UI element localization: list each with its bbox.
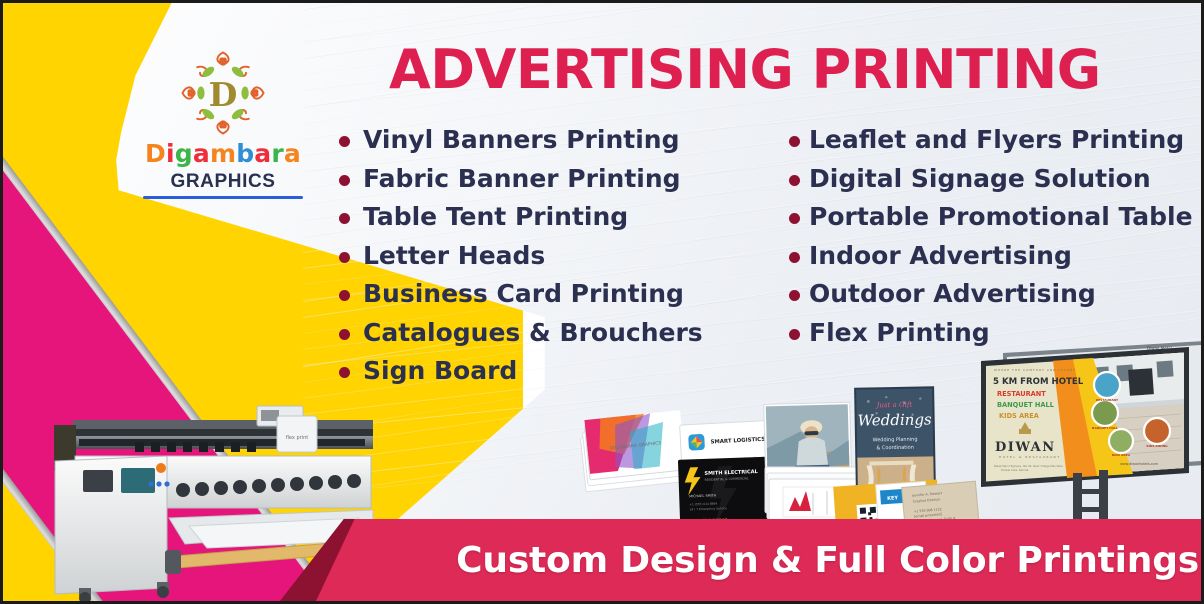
services-left-column: Vinyl Banners PrintingFabric Banner Prin… [339, 125, 739, 395]
service-item[interactable]: Leaflet and Flyers Printing [789, 125, 1204, 156]
billboard-brand: DIWAN [995, 440, 1056, 455]
service-item[interactable]: Fabric Banner Printing [339, 164, 739, 195]
ribbon-tagline: Custom Design & Full Color Printings [3, 519, 1199, 601]
service-item-label: Outdoor Advertising [809, 279, 1096, 310]
service-item[interactable]: Letter Heads [339, 241, 739, 272]
bullet-dot-icon [789, 252, 800, 263]
service-item-label: Flex Printing [809, 318, 990, 349]
bullet-dot-icon [339, 136, 350, 147]
svg-text:Dhiwal Area, Karnita: Dhiwal Area, Karnita [1001, 468, 1029, 472]
service-item[interactable]: Sign Board [339, 356, 739, 387]
billboard-eyebrow: WHERE THE COMFORT AND LUXURY [994, 368, 1076, 372]
bullet-dot-icon [339, 252, 350, 263]
brand-logo[interactable]: D Digambara GRAPHICS [123, 47, 323, 199]
brand-subtitle: GRAPHICS [123, 171, 323, 193]
service-item[interactable]: Flex Printing [789, 318, 1204, 349]
svg-text:KIDS RIDING: KIDS RIDING [1146, 444, 1168, 448]
svg-text:KIDS AREA: KIDS AREA [1112, 453, 1131, 457]
services-right-column: Leaflet and Flyers PrintingDigital Signa… [789, 125, 1204, 356]
brand-letter-2: g [175, 141, 193, 166]
billboard-website: www.diwanhotels.com [1120, 462, 1159, 466]
service-item[interactable]: Outdoor Advertising [789, 279, 1204, 310]
svg-text:& Coordination: & Coordination [876, 445, 914, 452]
service-item[interactable]: Indoor Advertising [789, 241, 1204, 272]
svg-text:Just a Gift: Just a Gift [875, 401, 913, 410]
service-item[interactable]: Business Card Printing [339, 279, 739, 310]
service-item-label: Vinyl Banners Printing [363, 125, 679, 156]
service-item[interactable]: Portable Promotional Table [789, 202, 1204, 233]
service-item[interactable]: Table Tent Printing [339, 202, 739, 233]
service-item-label: Sign Board [363, 356, 517, 387]
svg-text:RESTAURANT: RESTAURANT [997, 390, 1046, 398]
service-item-label: Digital Signage Solution [809, 164, 1151, 195]
ornamental-crest-icon: D [177, 47, 269, 139]
brand-letter-8: a [284, 141, 301, 166]
service-item-label: Letter Heads [363, 241, 545, 272]
brand-letter-1: i [166, 141, 175, 166]
svg-text:Wedding Planning: Wedding Planning [872, 437, 917, 444]
svg-text:RESTAURANT: RESTAURANT [1096, 398, 1119, 402]
service-item-label: Leaflet and Flyers Printing [809, 125, 1184, 156]
bullet-dot-icon [789, 329, 800, 340]
bottom-ribbon: Custom Design & Full Color Printings [3, 519, 1204, 601]
brand-letter-3: a [193, 141, 210, 166]
service-item[interactable]: Vinyl Banners Printing [339, 125, 739, 156]
svg-text:Weddings: Weddings [857, 410, 932, 429]
svg-text:KEY: KEY [887, 495, 899, 502]
page-title: ADVERTISING PRINTING [389, 38, 1149, 101]
brand-letter-5: b [236, 141, 254, 166]
service-item-label: Business Card Printing [363, 279, 684, 310]
bullet-dot-icon [339, 367, 350, 378]
service-item-label: Fabric Banner Printing [363, 164, 681, 195]
svg-text:BANQUET HALL: BANQUET HALL [997, 401, 1055, 409]
crest-monogram-d: D [209, 75, 238, 114]
svg-text:BANQUET HALL: BANQUET HALL [1092, 426, 1118, 430]
bullet-dot-icon [789, 290, 800, 301]
svg-text:KIDS AREA: KIDS AREA [999, 412, 1040, 420]
bullet-dot-icon [789, 136, 800, 147]
brand-wordmark: Digambara [123, 141, 323, 166]
billboard-brand-sub: HOTEL & RESTAURANT [999, 455, 1061, 459]
brand-letter-6: a [254, 141, 271, 166]
brand-letter-0: D [145, 141, 166, 166]
brand-underline [143, 196, 303, 199]
brand-letter-7: r [271, 141, 284, 166]
outdoor-billboard-image: RESTAURANT BANQUET HALL KIDS AREA KIDS R… [961, 337, 1204, 533]
brand-letter-4: m [210, 141, 236, 166]
service-item[interactable]: Catalogues & Brouchers [339, 318, 739, 349]
service-item-label: Portable Promotional Table [809, 202, 1193, 233]
service-item-label: Catalogues & Brouchers [363, 318, 703, 349]
advertising-banner: D Digambara GRAPHICS ADVERTISING PRINTIN… [0, 0, 1204, 604]
billboard-headline: 5 KM FROM HOTEL [993, 377, 1084, 387]
bullet-dot-icon [789, 175, 800, 186]
bullet-dot-icon [339, 329, 350, 340]
bullet-dot-icon [339, 213, 350, 224]
service-item-label: Table Tent Printing [363, 202, 628, 233]
svg-text:flex print: flex print [286, 435, 308, 441]
bullet-dot-icon [789, 213, 800, 224]
service-item[interactable]: Digital Signage Solution [789, 164, 1204, 195]
service-item-label: Indoor Advertising [809, 241, 1072, 272]
bullet-dot-icon [339, 290, 350, 301]
bullet-dot-icon [339, 175, 350, 186]
